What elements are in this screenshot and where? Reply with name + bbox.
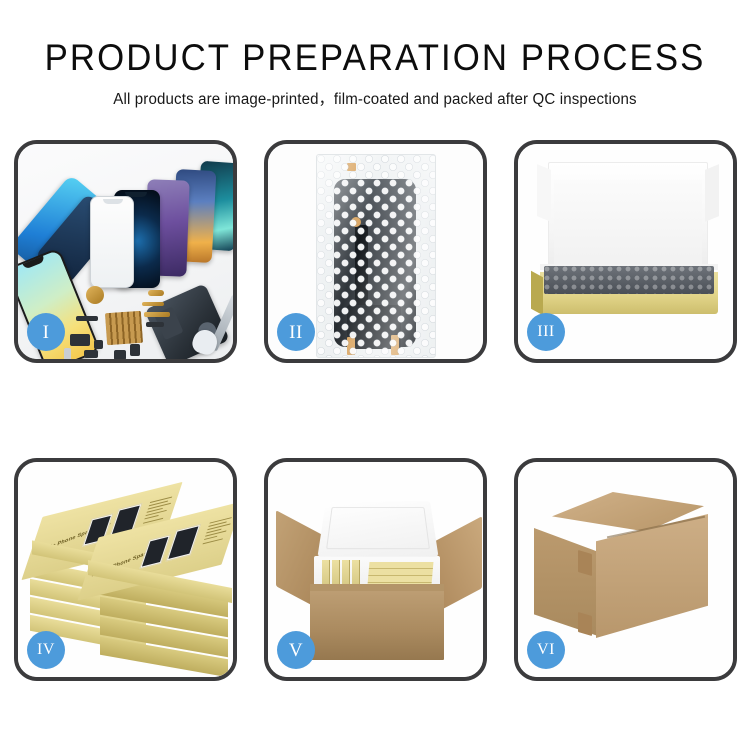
step-badge-2: II <box>277 313 315 351</box>
page-subtitle: All products are image-printed，film-coat… <box>6 87 745 109</box>
process-row-1: I II <box>14 140 736 363</box>
process-step-5[interactable]: V <box>264 458 487 681</box>
header: PRODUCT PREPARATION PROCESS All products… <box>0 38 750 109</box>
step-badge-5: V <box>277 631 315 669</box>
process-step-3[interactable]: III <box>514 140 737 363</box>
step-badge-3: III <box>527 313 565 351</box>
step-badge-4: IV <box>27 631 65 669</box>
step-badge-1: I <box>27 313 65 351</box>
process-row-2: Mobile Phone Spare Parts <box>14 458 736 681</box>
process-step-4[interactable]: Mobile Phone Spare Parts <box>14 458 237 681</box>
process-step-6[interactable]: VI <box>514 458 737 681</box>
product-preparation-infographic: PRODUCT PREPARATION PROCESS All products… <box>0 0 750 750</box>
process-grid: I II <box>14 140 736 681</box>
process-step-1[interactable]: I <box>14 140 237 363</box>
page-title: PRODUCT PREPARATION PROCESS <box>23 38 728 77</box>
process-step-2[interactable]: II <box>264 140 487 363</box>
step-badge-6: VI <box>527 631 565 669</box>
